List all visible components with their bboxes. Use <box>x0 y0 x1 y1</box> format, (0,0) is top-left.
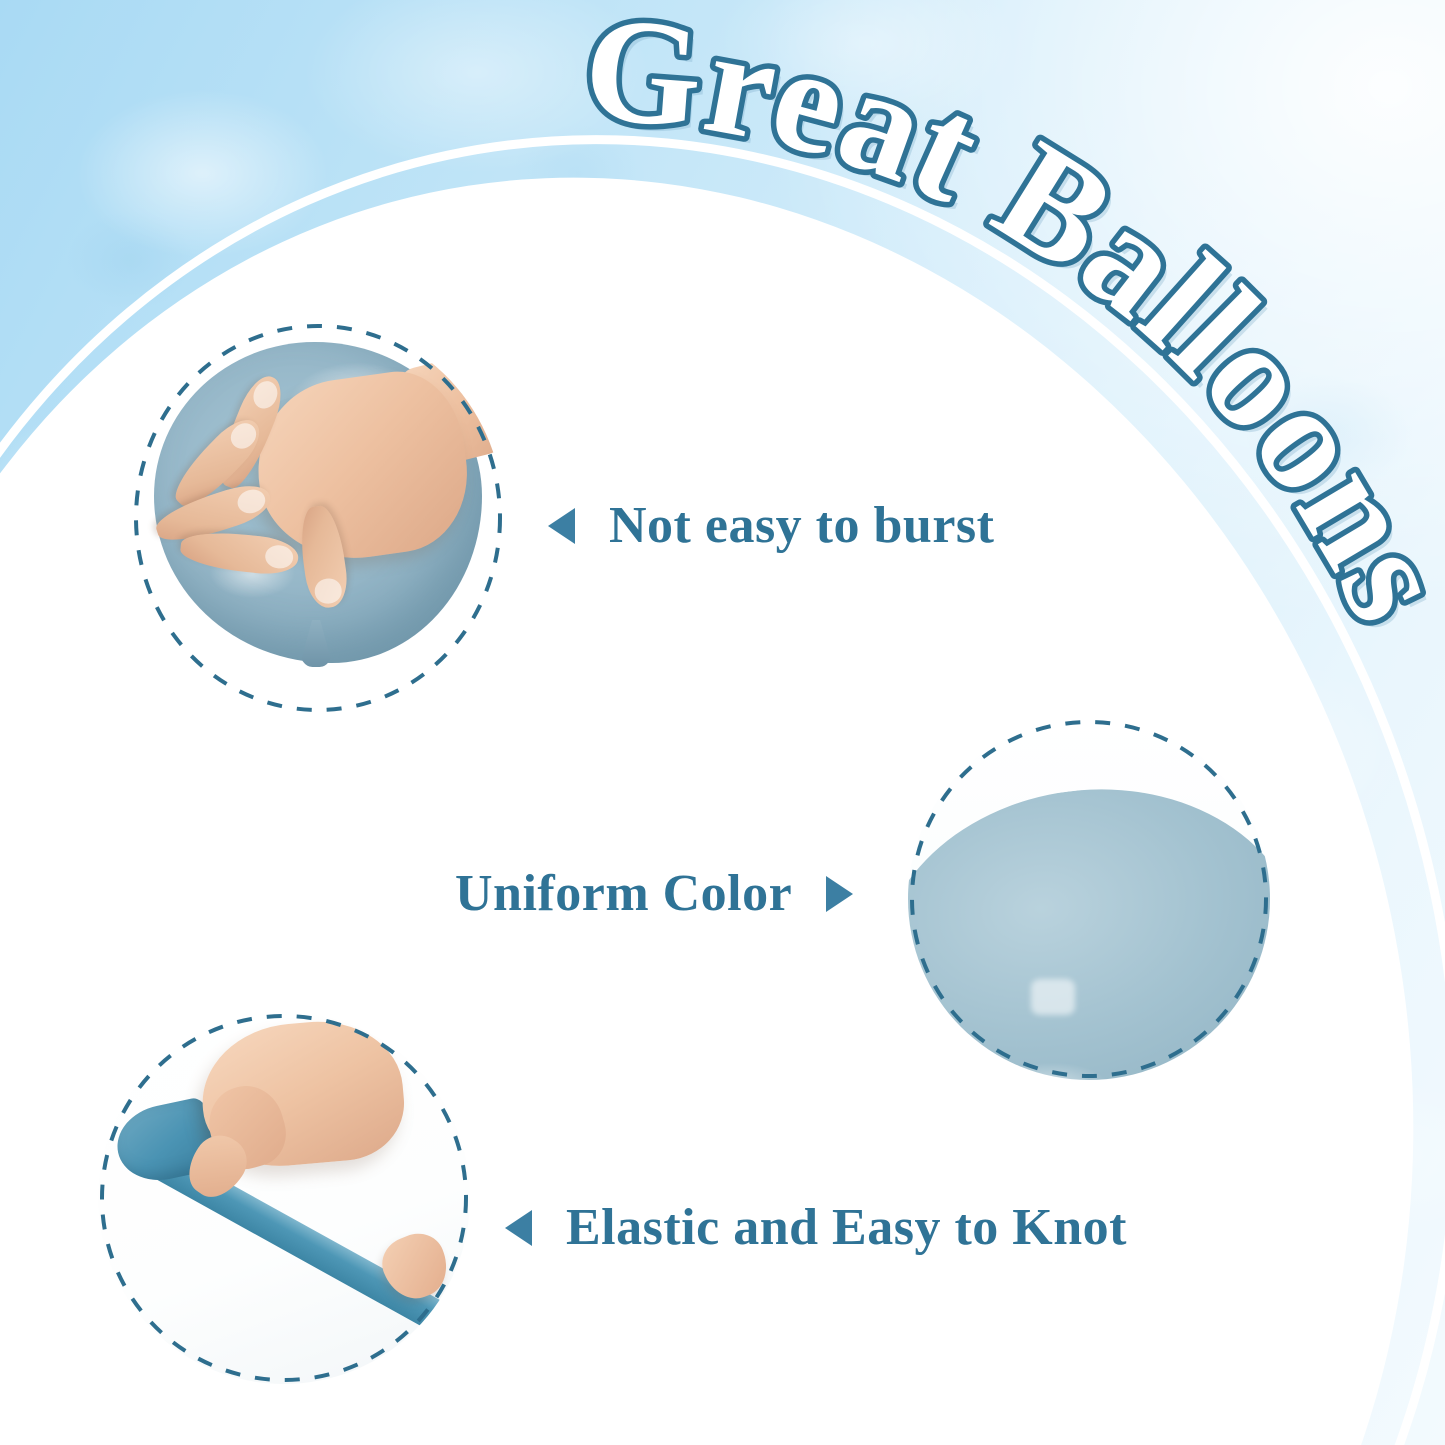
feature-caption-burst: Not easy to burst <box>548 500 994 552</box>
feature-label-burst: Not easy to burst <box>609 500 994 552</box>
triangle-left-icon <box>505 1210 532 1246</box>
feature-label-uniform: Uniform Color <box>455 868 792 920</box>
triangle-left-icon <box>548 508 575 544</box>
fingernail <box>250 377 283 412</box>
triangle-right-icon <box>826 876 853 912</box>
fingernail <box>264 544 295 571</box>
feature-caption-uniform: Uniform Color <box>455 868 853 920</box>
hand-pressing-balloon-photo <box>132 322 504 714</box>
hand-stretching-balloon-photo <box>98 1012 470 1384</box>
fingernail <box>314 578 343 606</box>
feature-label-elastic: Elastic and Easy to Knot <box>566 1202 1127 1254</box>
balloon-surface-closeup-photo <box>908 718 1270 1080</box>
balloon-specular-highlight <box>1031 979 1074 1015</box>
product-infographic-poster: Great Balloons Great Balloons Not easy t… <box>0 0 1445 1445</box>
feature-caption-elastic: Elastic and Easy to Knot <box>505 1202 1127 1254</box>
